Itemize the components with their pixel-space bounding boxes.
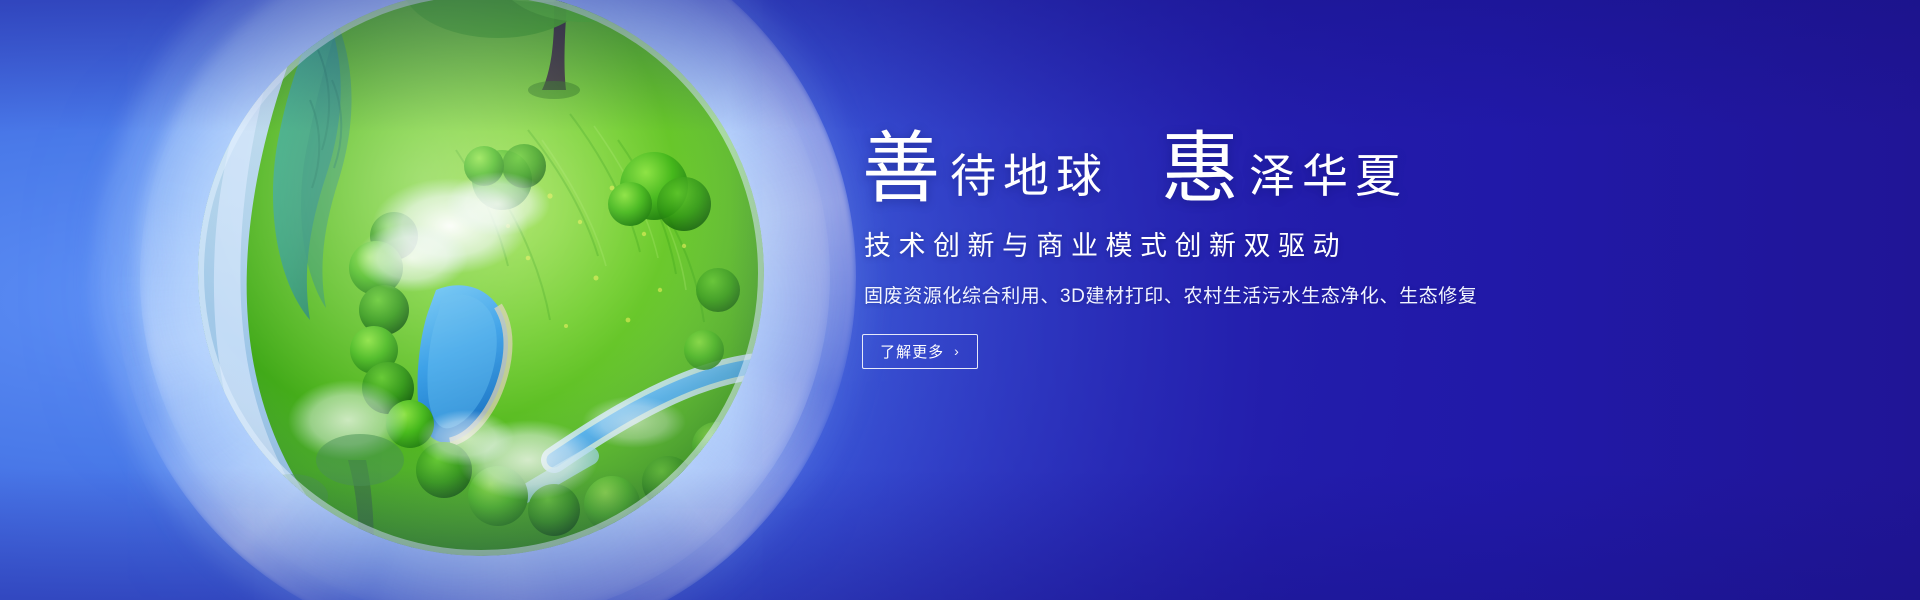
headline-text-daidiqiu: 待地球 (940, 154, 1109, 206)
headline-char-hui: 惠 (1161, 130, 1239, 208)
learn-more-label: 了解更多 (880, 341, 944, 362)
headline-char-shan: 善 (862, 130, 940, 208)
hero-banner: 善 待地球 惠 泽华夏 技术创新与商业模式创新双驱动 固废资源化综合利用、3D建… (0, 0, 1920, 600)
chevron-right-icon: › (954, 344, 960, 358)
banner-headline: 善 待地球 惠 泽华夏 (862, 128, 1622, 206)
banner-description: 固废资源化综合利用、3D建材打印、农村生活污水生态净化、生态修复 (864, 281, 1622, 308)
banner-subtitle: 技术创新与商业模式创新双驱动 (864, 224, 1622, 263)
banner-copy: 善 待地球 惠 泽华夏 技术创新与商业模式创新双驱动 固废资源化综合利用、3D建… (862, 128, 1622, 369)
learn-more-button[interactable]: 了解更多 › (862, 334, 978, 369)
headline-text-zehuaxia: 泽华夏 (1239, 154, 1408, 206)
